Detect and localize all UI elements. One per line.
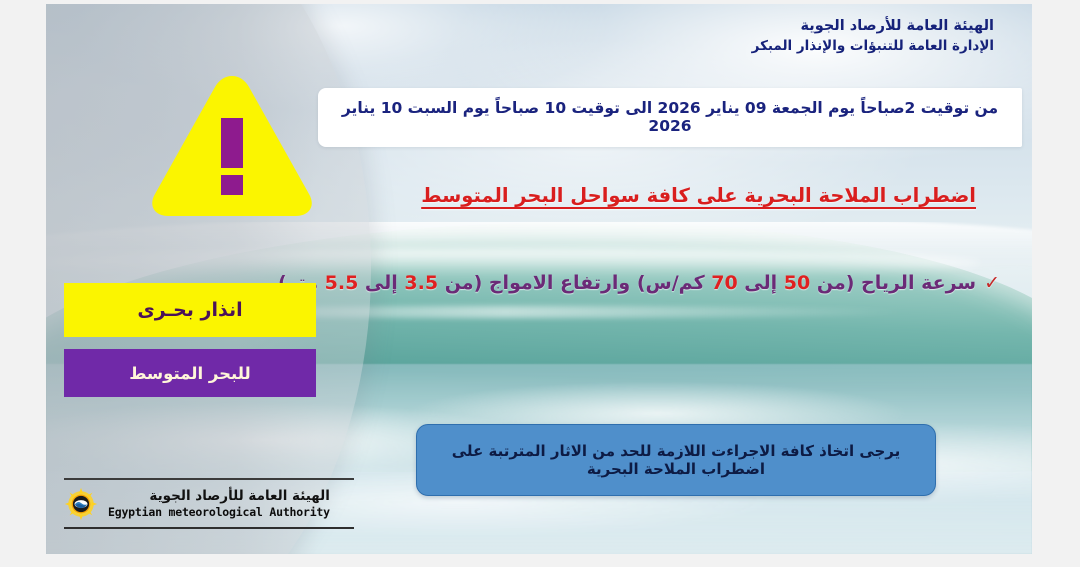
validity-period-bar: من توقيت 2صباحاً يوم الجمعة 09 يناير 202…: [318, 88, 1022, 147]
footer-rule-bottom: [64, 527, 354, 529]
advisory-box: يرجى اتخاذ كافة الاجراءت اللازمة للحد من…: [416, 424, 936, 496]
detail-part-4: إلى: [358, 272, 404, 294]
agency-header: الهيئة العامة للأرصاد الجوية الإدارة الع…: [752, 16, 994, 57]
conditions-detail-line: ✓سرعة الرياح (من 50 إلى 70 كم/س) وارتفاع…: [376, 272, 1000, 294]
footer-logo-block: الهيئة العامة للأرصاد الجوية Egyptian me…: [64, 478, 354, 529]
footer-agency-english: Egyptian meteorological Authority: [108, 505, 330, 519]
agency-name-line1: الهيئة العامة للأرصاد الجوية: [752, 16, 994, 37]
check-icon: ✓: [984, 272, 1000, 294]
detail-part-3: كم/س) وارتفاع الامواج (من: [438, 272, 711, 294]
detail-part-2: إلى: [738, 272, 784, 294]
marine-warning-tag: انذار بحـرى: [64, 283, 316, 337]
page-title: اضطراب الملاحة البحرية على كافة سواحل ال…: [421, 184, 976, 207]
mediterranean-sea-tag: للبحر المتوسط: [64, 349, 316, 397]
wave-height-min: 3.5: [404, 272, 438, 294]
agency-name-line2: الإدارة العامة للتنبؤات والإنذار المبكر: [752, 37, 994, 57]
wind-speed-min: 50: [784, 272, 810, 294]
warning-poster-page: الهيئة العامة للأرصاد الجوية الإدارة الع…: [0, 0, 1080, 567]
poster-canvas: الهيئة العامة للأرصاد الجوية الإدارة الع…: [46, 4, 1032, 554]
warning-triangle-icon: [146, 70, 318, 220]
detail-part-1: سرعة الرياح (من: [810, 272, 976, 294]
wave-height-max: 5.5: [325, 272, 359, 294]
wind-speed-max: 70: [711, 272, 737, 294]
sun-eye-emblem-icon: [64, 487, 98, 521]
footer-agency-arabic: الهيئة العامة للأرصاد الجوية: [108, 488, 330, 505]
